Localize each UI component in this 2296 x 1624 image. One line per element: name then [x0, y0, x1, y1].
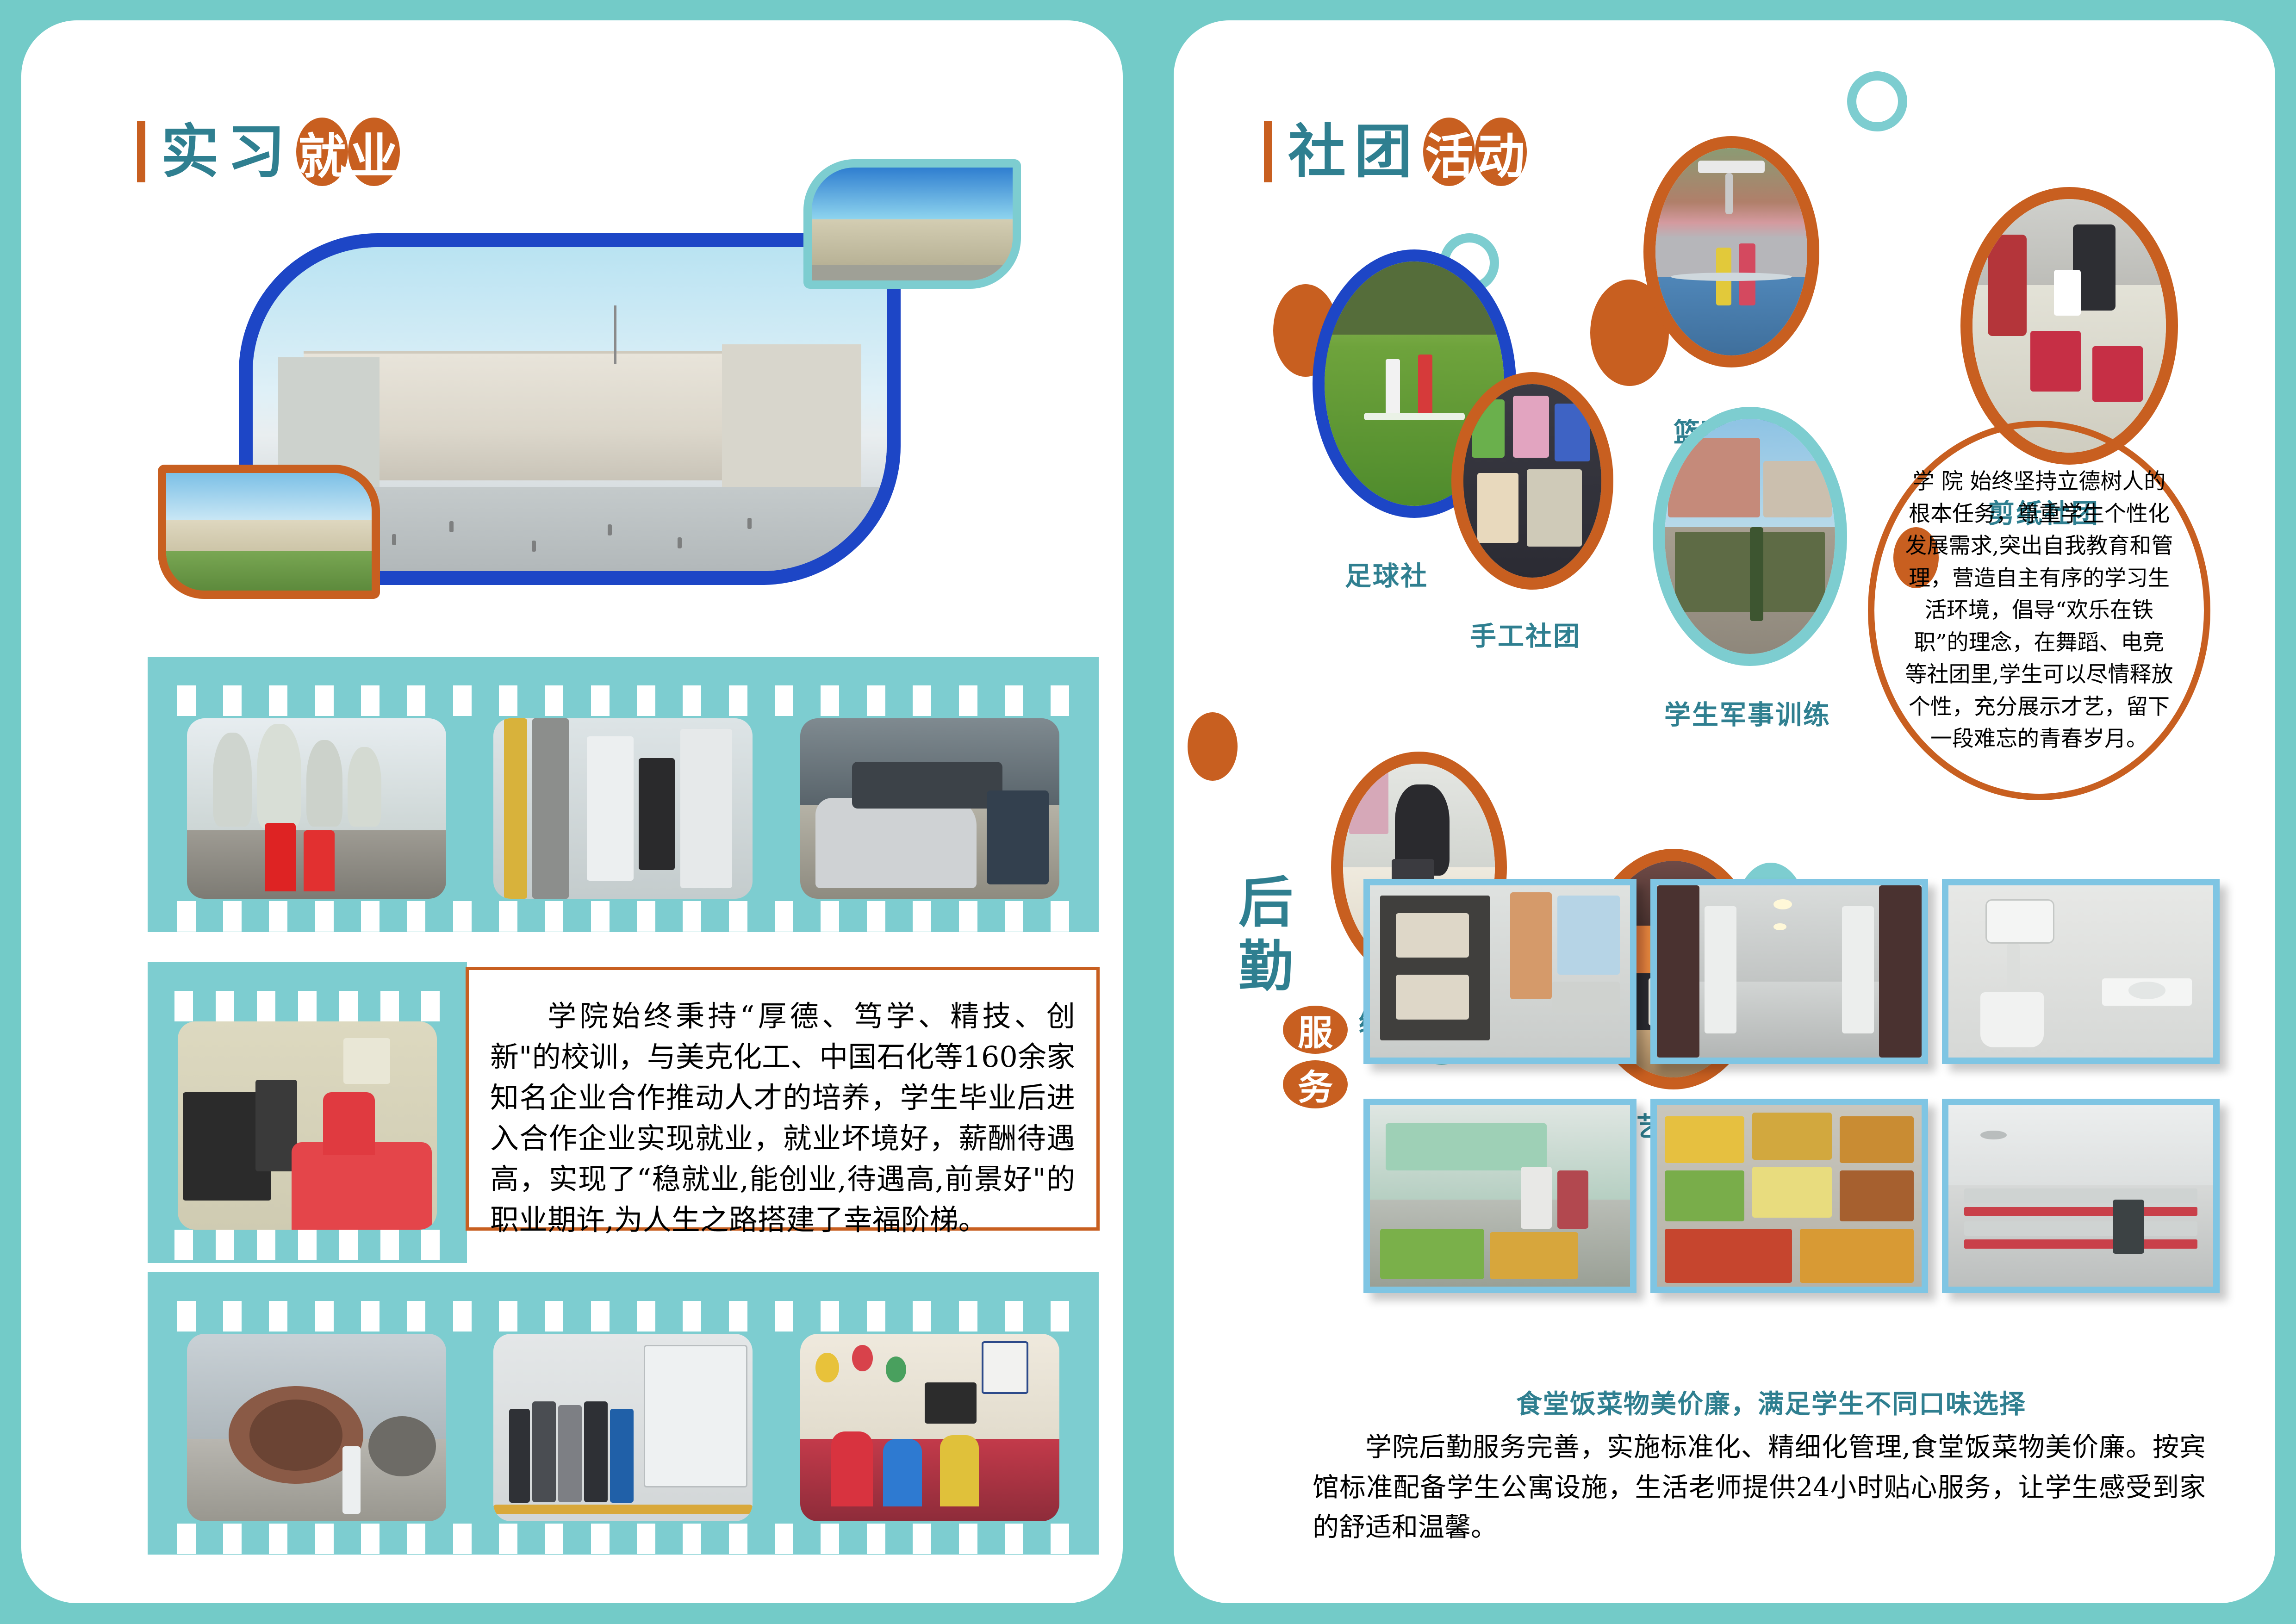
- deco-dot-orange-3: [1188, 712, 1238, 781]
- right-page: 社团 活 动 足球社 篮球社团: [1174, 20, 2275, 1603]
- club-label-football: 足球社: [1345, 555, 1428, 593]
- internship-quote-box: 学院始终秉持“厚德、笃学、精技、创新"的校训，与美克化工、中国石化等160余家知…: [466, 967, 1100, 1231]
- section-title-ellipse-2: 业: [348, 118, 400, 186]
- logistics-photo-dorm-bathroom: [1942, 879, 2220, 1064]
- title-accent-bar: [1264, 121, 1272, 182]
- inset-photo-sports-field: [158, 465, 380, 599]
- hero-flagpole: [614, 305, 616, 364]
- section-title-ellipse-group: 就 业: [296, 118, 400, 186]
- section-title-ellipse-2: 动: [1475, 118, 1527, 186]
- logistics-photo-canteen-hall: [1942, 1099, 2220, 1293]
- section-title-plain-text: 社团: [1288, 123, 1420, 181]
- film-strip-bottom: [148, 1272, 1099, 1555]
- section-title-ellipse-1: 就: [296, 118, 348, 186]
- sprocket-holes-bottom: [148, 1524, 1099, 1554]
- club-label-handicraft: 手工社团: [1470, 615, 1581, 653]
- logistics-paragraph: 学院后勤服务完善，实施标准化、精细化管理,食堂饭菜物美价廉。按宾馆标准配备学生公…: [1313, 1427, 2206, 1548]
- section-title-clubs: 社团 活 动: [1264, 118, 1527, 186]
- internship-quote-text: 学院始终秉持“厚德、笃学、精技、创新"的校训，与美克化工、中国石化等160余家知…: [490, 996, 1075, 1240]
- club-label-military-training: 学生军事训练: [1664, 694, 1831, 732]
- sprocket-holes-bottom: [148, 1230, 467, 1260]
- club-philosophy-text: 学 院 始终坚持立德树人的根本任务，尊重学生个性化发展需求,突出自我教育和管理，…: [1903, 466, 2175, 755]
- sprocket-holes-bottom: [148, 901, 1099, 932]
- logistics-caption-canteen: 食堂饭菜物美价廉，满足学生不同口味选择: [1516, 1383, 2026, 1421]
- sprocket-holes-top: [148, 991, 467, 1021]
- section-title-ellipse-group: 活 动: [1423, 118, 1527, 186]
- logistics-title-ellipse-2: 务: [1283, 1060, 1348, 1108]
- film-strip-top: [148, 657, 1099, 932]
- section-title-internship: 实习 就 业: [137, 118, 400, 186]
- film-photo-industrial-lab: [493, 718, 753, 899]
- film-photo-fabrication-workshop: [187, 1334, 446, 1521]
- film-photo-switchgear-training: [493, 1334, 753, 1521]
- title-accent-bar: [137, 121, 145, 182]
- logistics-photo-dorm-beds: [1363, 879, 1636, 1064]
- section-title-plain-text: 实习: [161, 123, 293, 181]
- club-philosophy-note: 学 院 始终坚持立德树人的根本任务，尊重学生个性化发展需求,突出自我教育和管理，…: [1868, 421, 2210, 800]
- film-photo-chemical-plant: [187, 718, 446, 899]
- sprocket-holes-top: [148, 1301, 1099, 1332]
- logistics-title-ellipse-1: 服: [1283, 1006, 1348, 1054]
- logistics-photo-dorm-corridor: [1650, 879, 1928, 1064]
- club-photo-military-training: [1653, 407, 1847, 666]
- hero-side-block-right: [722, 344, 861, 487]
- film-photo-kindergarten-class: [800, 1334, 1059, 1521]
- film-strip-middle: [148, 962, 467, 1263]
- logistics-photo-canteen-dishes: [1650, 1099, 1928, 1293]
- club-photo-basketball: [1643, 136, 1819, 367]
- left-page: 实习 就 业: [21, 20, 1123, 1603]
- deco-ring-teal-1: [1847, 71, 1907, 131]
- film-photo-control-room: [178, 1021, 437, 1230]
- section-title-ellipse-1: 活: [1423, 118, 1475, 186]
- logistics-photo-canteen-counter: [1363, 1099, 1636, 1293]
- sprocket-holes-top: [148, 685, 1099, 716]
- film-photo-auto-workshop: [800, 718, 1059, 899]
- club-photo-handicraft: [1451, 372, 1613, 590]
- club-photo-papercut: [1960, 187, 2178, 465]
- inset-photo-academic-building: [803, 159, 1021, 289]
